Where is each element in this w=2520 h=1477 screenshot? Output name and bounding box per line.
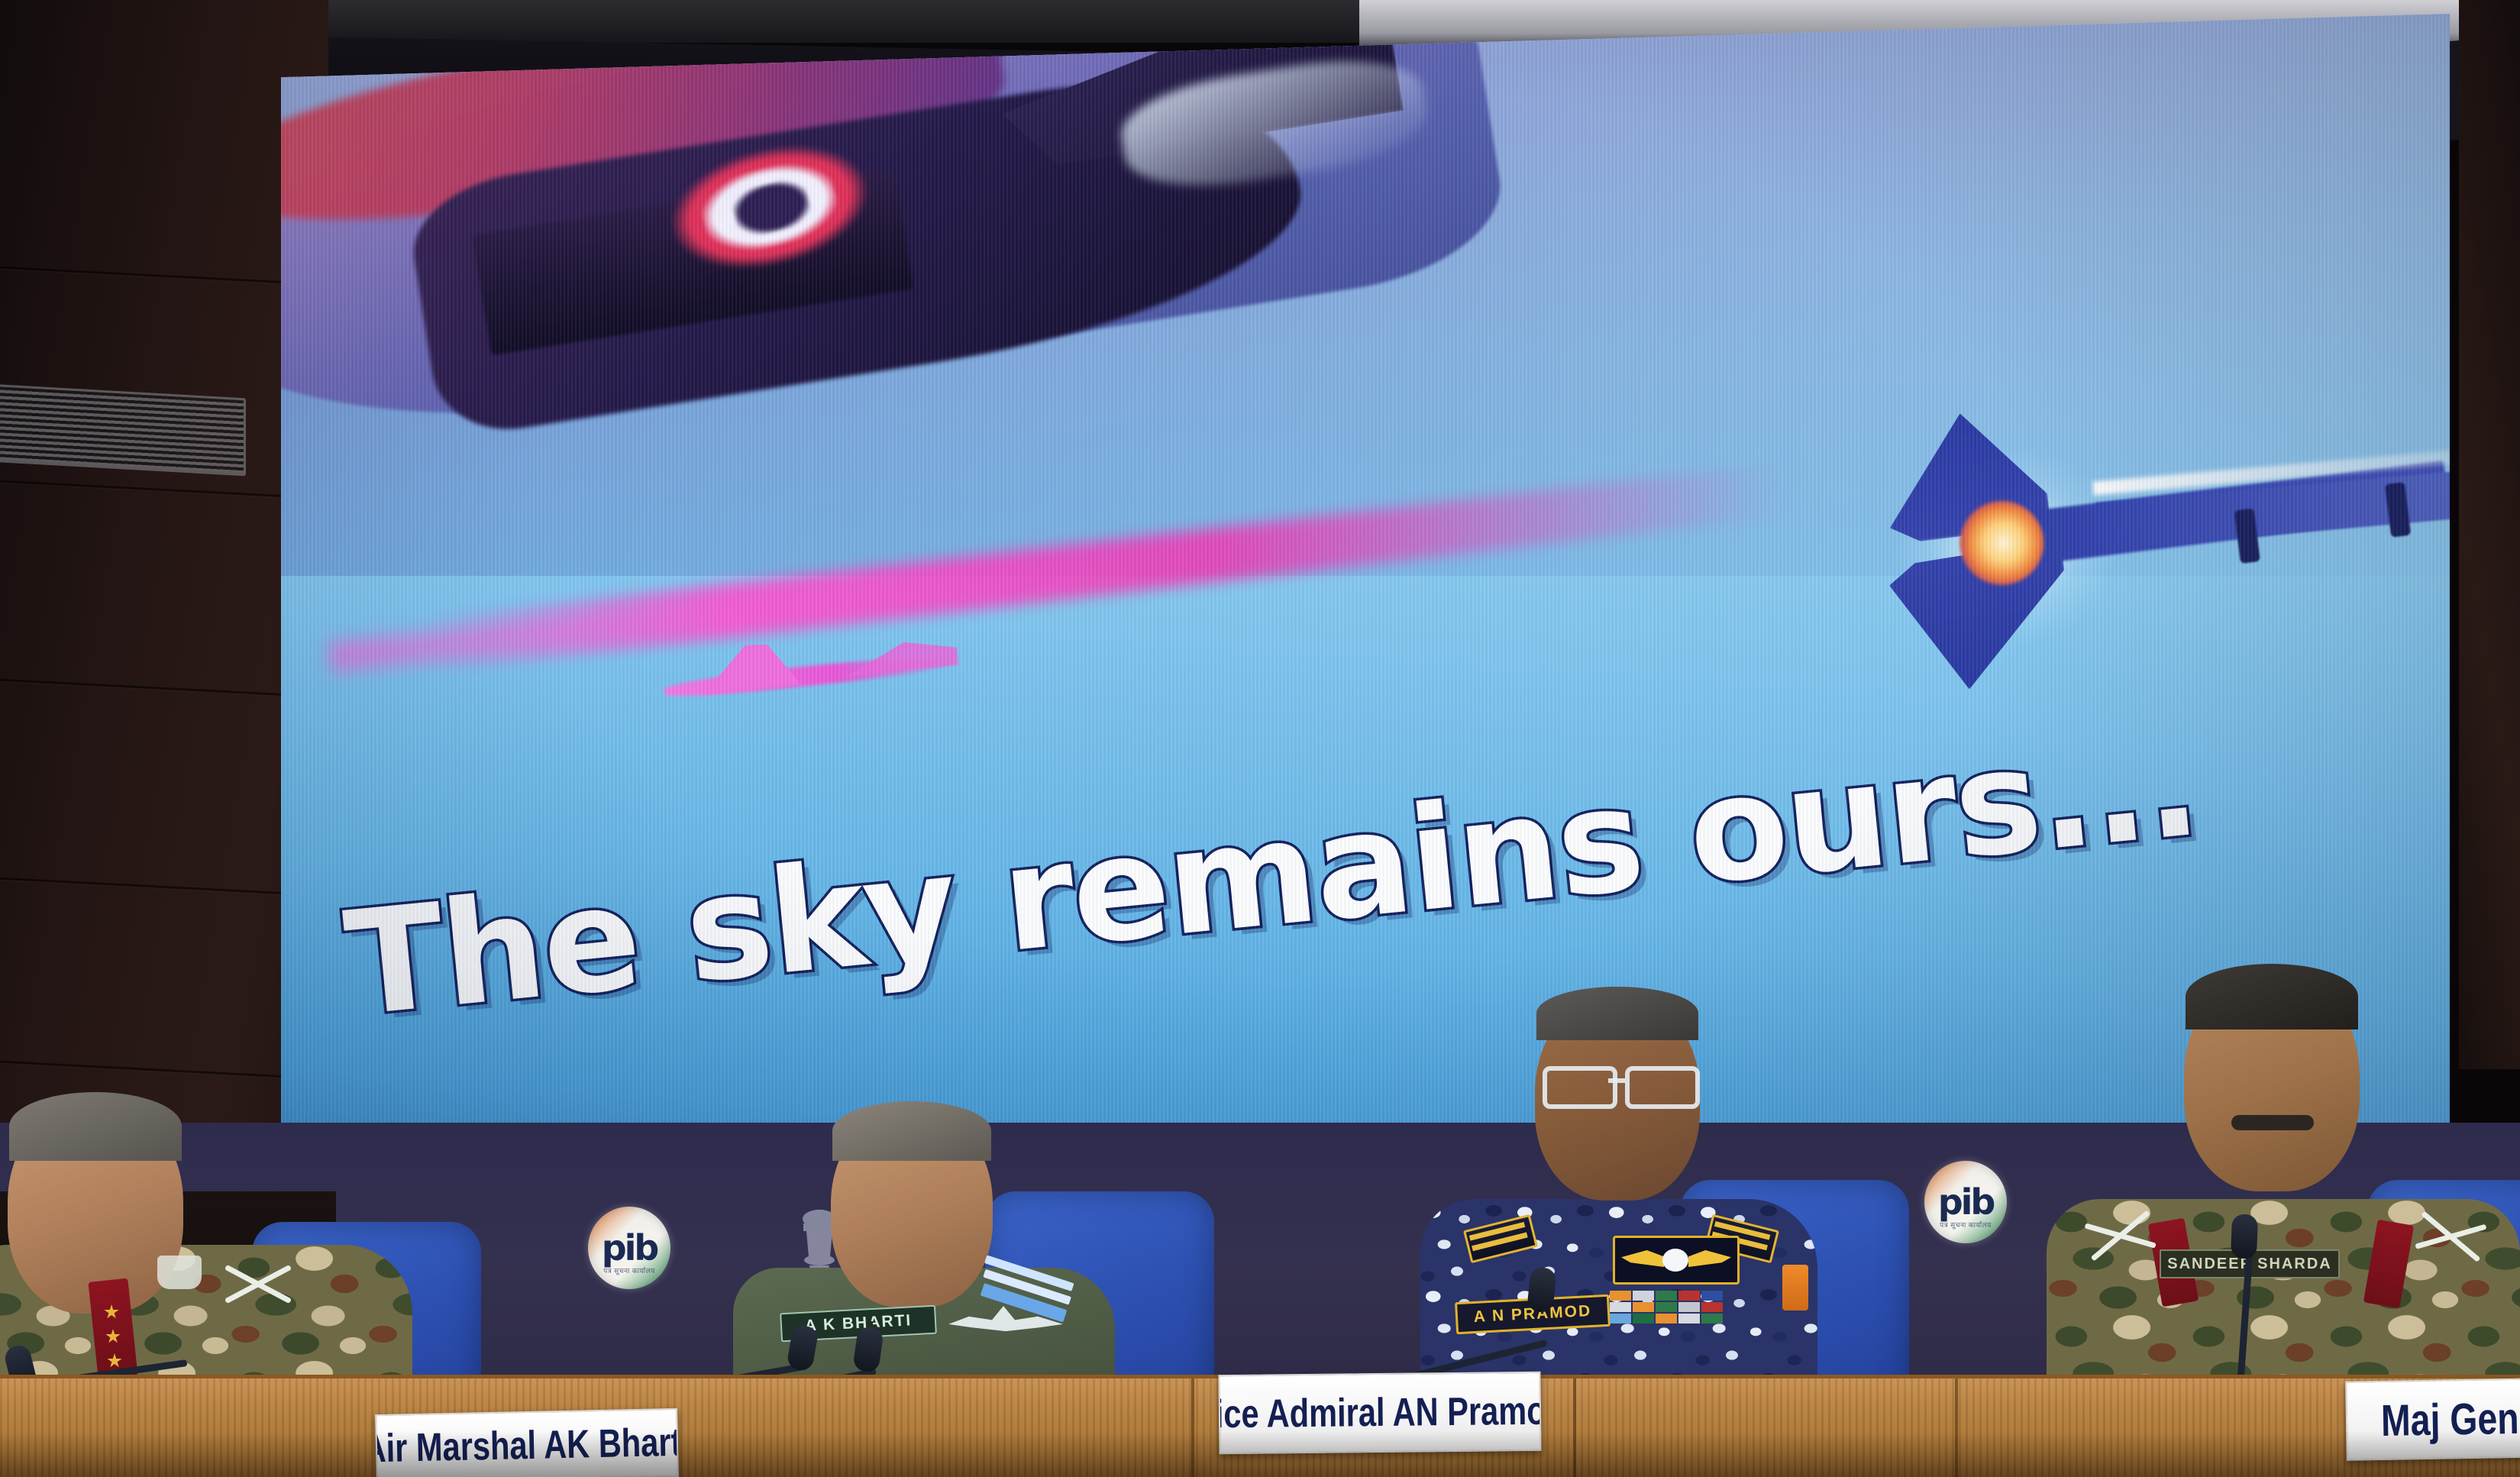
nameplate-air-marshal: Air Marshal AK Bharti: [375, 1408, 679, 1477]
wall-panel-right: [2459, 0, 2520, 1069]
national-emblem-shoulder-icon: [157, 1256, 202, 1289]
medal-ribbons: [1610, 1291, 1724, 1323]
nameplate-vice-admiral: Vice Admiral AN Pramod: [1218, 1372, 1541, 1454]
pib-logo: pib पत्र सूचना कार्यालय: [588, 1207, 670, 1289]
crossed-swords-insignia-icon: [214, 1259, 305, 1320]
speaker-army-right: SANDEEP SHARDA: [2047, 955, 2520, 1436]
nameplate-maj-gen: Maj Gen S: [2345, 1377, 2520, 1461]
press-conference-scene: The sky remains ours... pib पत्र सूचना क…: [0, 0, 2520, 1477]
naval-aviator-wings-badge-icon: [1613, 1236, 1740, 1285]
pib-logo: pib पत्र सूचना कार्यालय: [1924, 1161, 2007, 1243]
air-conditioning-vent-icon: [0, 384, 246, 477]
